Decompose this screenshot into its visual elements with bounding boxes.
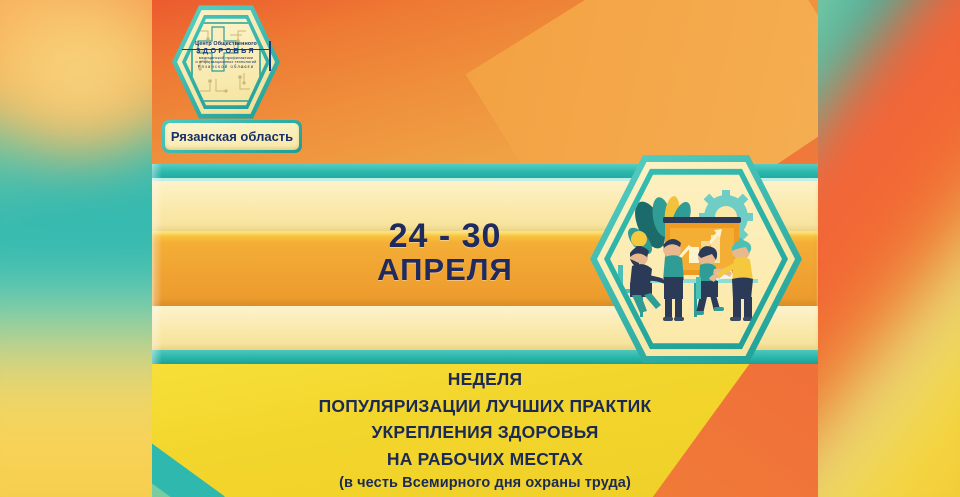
illustration-hexagon <box>590 153 802 365</box>
blurred-right-backdrop <box>818 0 960 497</box>
date-line-2: АПРЕЛЯ <box>320 254 570 286</box>
region-badge[interactable]: Рязанская область <box>162 120 302 153</box>
poster-stage: 24 - 30 АПРЕЛЯ <box>0 0 960 497</box>
date-range: 24 - 30 АПРЕЛЯ <box>320 219 570 287</box>
headline-line-1: НЕДЕЛЯ <box>172 366 798 393</box>
headline-block: НЕДЕЛЯ ПОПУЛЯРИЗАЦИИ ЛУЧШИХ ПРАКТИК УКРЕ… <box>172 366 798 491</box>
poster-main: 24 - 30 АПРЕЛЯ <box>152 0 818 497</box>
logo-line-5: Рязанской области <box>180 65 272 70</box>
headline-line-3: УКРЕПЛЕНИЯ ЗДОРОВЬЯ <box>172 419 798 446</box>
diagonal-shape-orange-light <box>466 0 818 172</box>
headline-subtitle: (в честь Всемирного дня охраны труда) <box>172 475 798 491</box>
organization-logo[interactable]: Центр Общественного ЗДОРОВЬЯ медицинской… <box>172 3 280 121</box>
logo-divider <box>182 49 270 50</box>
headline-line-4: НА РАБОЧИХ МЕСТАХ <box>172 446 798 473</box>
headline-line-2: ПОПУЛЯРИЗАЦИИ ЛУЧШИХ ПРАКТИК <box>172 393 798 420</box>
band-left-bevel <box>152 164 162 364</box>
date-line-1: 24 - 30 <box>320 219 570 254</box>
logo-text-block: Центр Общественного ЗДОРОВЬЯ медицинской… <box>180 41 272 69</box>
logo-vertical-bar <box>269 41 271 71</box>
region-badge-label: Рязанская область <box>171 129 293 144</box>
blurred-left-backdrop <box>0 0 152 497</box>
